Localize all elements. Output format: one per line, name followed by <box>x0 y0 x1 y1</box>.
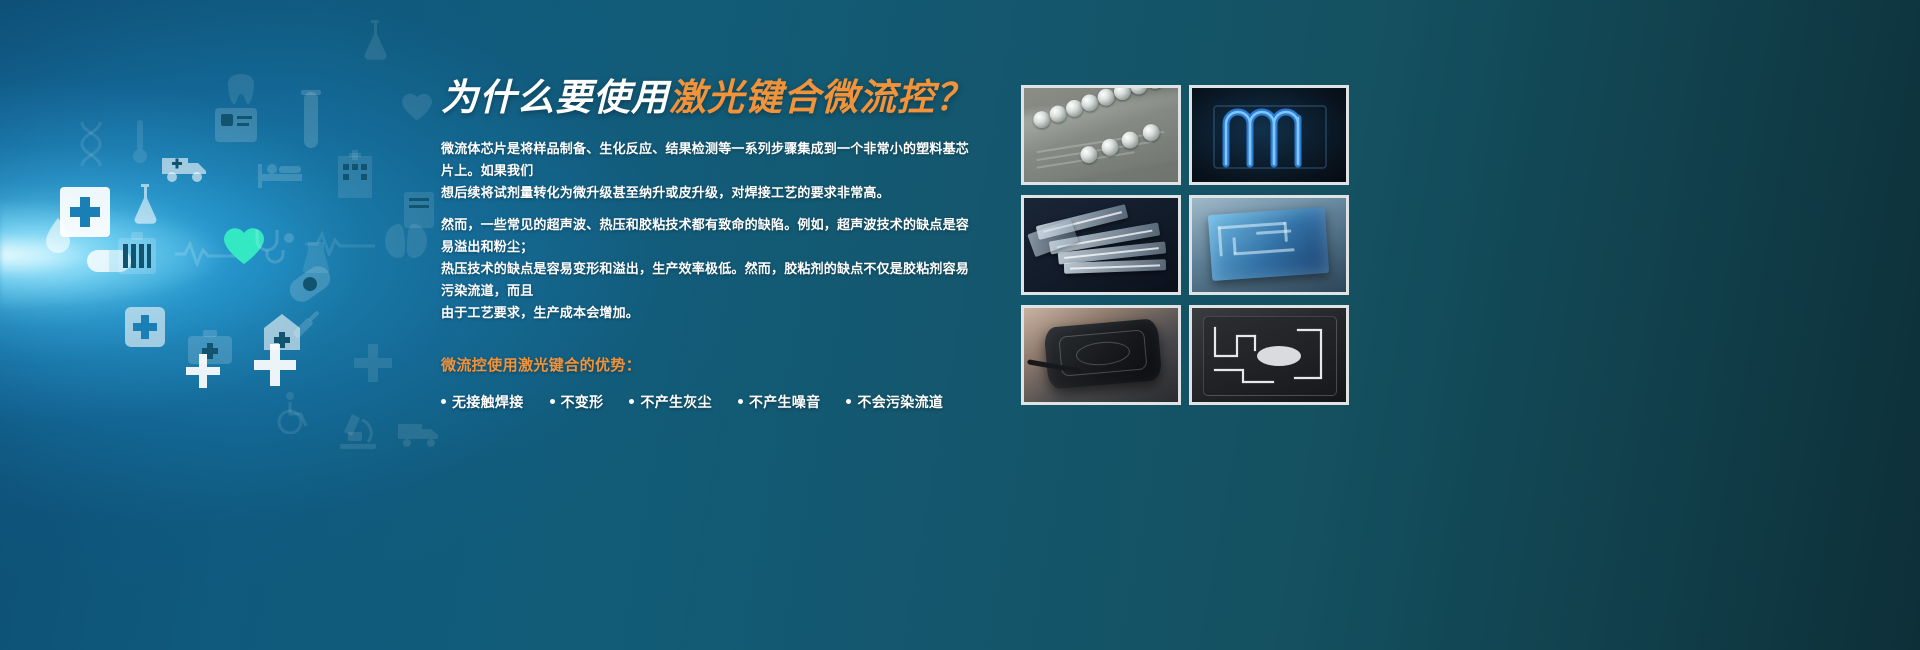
list-item-label: 不会污染流道 <box>857 392 943 412</box>
paragraph-line: 由于工艺要求，生产成本会增加。 <box>441 302 981 324</box>
medical-cross-badge-icon <box>125 307 165 347</box>
bullet-dot-icon <box>550 399 555 404</box>
serpentine-channel-glowing-photo <box>1189 85 1349 185</box>
first-aid-kit-icon <box>188 330 232 364</box>
dark-plate-channel-photo <box>1189 305 1349 405</box>
plus-cross-icon <box>252 342 298 388</box>
test-tube-icon <box>300 90 322 156</box>
bullet-dot-icon <box>629 399 634 404</box>
flask-icon <box>358 18 392 62</box>
heart-pulse-icon <box>222 226 266 266</box>
blood-drop-icon <box>44 218 72 254</box>
paragraph-line: 想后续将试剂量转化为微升级甚至纳升或皮升级，对焊接工艺的要求非常高。 <box>441 182 981 204</box>
bullet-dot-icon <box>846 399 851 404</box>
battery-icon <box>118 232 156 274</box>
light-beam <box>0 200 230 310</box>
plus-cross-icon <box>352 342 394 384</box>
heart-pulse-icon <box>400 92 434 122</box>
product-photo-grid <box>1021 85 1349 405</box>
beaker-icon <box>302 240 330 274</box>
transparent-chip-array-photo <box>1021 195 1181 295</box>
title-orange-part: 激光键合微流控？ <box>669 77 973 118</box>
list-item-label: 不产生灰尘 <box>640 392 712 412</box>
clipboard-icon <box>215 108 257 142</box>
list-item: 不会污染流道 <box>846 392 943 412</box>
microscope-icon <box>338 408 378 450</box>
plus-cross-icon <box>184 352 222 390</box>
plus-cross-icon <box>58 185 112 239</box>
ecg-line-icon <box>175 240 235 266</box>
list-item-label: 不变形 <box>561 392 604 412</box>
page-title: 为什么要使用激光键合微流控？ <box>441 78 981 119</box>
microfluidic-chip-wells-photo <box>1021 85 1181 185</box>
stethoscope-icon <box>252 228 296 264</box>
list-item-label: 不产生噪音 <box>749 392 821 412</box>
ambulance-icon <box>160 150 210 184</box>
house-medical-icon <box>262 312 302 352</box>
thermometer-icon <box>132 118 148 164</box>
promo-banner: 为什么要使用激光键合微流控？ 微流体芯片是将样品制备、生化反应、结果检测等一系列… <box>0 0 1920 650</box>
title-white-part: 为什么要使用 <box>441 77 669 118</box>
bandage-icon <box>288 272 332 296</box>
drawbacks-paragraph-block: 然而，一些常见的超声波、热压和胶粘技术都有致命的缺陷。例如，超声波技术的缺点是容… <box>441 214 981 324</box>
left-glow <box>0 150 320 360</box>
advantages-list: 无接触焊接 不变形 不产生灰尘 不产生噪音 不会污染流道 <box>441 392 981 412</box>
wheelchair-icon <box>274 392 314 434</box>
flask-icon <box>128 182 162 226</box>
paragraph-line: 微流体芯片是将样品制备、生化反应、结果检测等一系列步骤集成到一个非常小的塑料基芯… <box>441 138 981 182</box>
hospital-bed-icon <box>258 158 304 188</box>
list-item: 不变形 <box>550 392 604 412</box>
dna-icon <box>78 120 104 168</box>
bullet-dot-icon <box>441 399 446 404</box>
ecg-line-icon <box>305 230 375 256</box>
list-item: 不产生噪音 <box>738 392 821 412</box>
advantages-subheading: 微流控使用激光键合的优势： <box>441 354 981 375</box>
tooth-icon <box>226 72 256 106</box>
syringe-icon <box>288 308 324 344</box>
blue-manifold-block-photo <box>1189 195 1349 295</box>
black-molded-part-in-hand-photo <box>1021 305 1181 405</box>
list-item: 无接触焊接 <box>441 392 524 412</box>
list-item: 不产生灰尘 <box>629 392 712 412</box>
pill-capsule-icon <box>86 246 132 276</box>
truck-icon <box>398 420 442 448</box>
hospital-building-icon <box>338 150 372 198</box>
list-item-label: 无接触焊接 <box>452 392 524 412</box>
text-column: 为什么要使用激光键合微流控？ 微流体芯片是将样品制备、生化反应、结果检测等一系列… <box>441 78 981 412</box>
bullet-dot-icon <box>738 399 743 404</box>
paragraph-line: 热压技术的缺点是容易变形和溢出，生产效率极低。然而，胶粘剂的缺点不仅是胶粘剂容易… <box>441 258 981 302</box>
book-icon <box>402 190 436 230</box>
kidney-icon <box>385 222 427 262</box>
intro-paragraph-block: 微流体芯片是将样品制备、生化反应、结果检测等一系列步骤集成到一个非常小的塑料基芯… <box>441 138 981 204</box>
paragraph-line: 然而，一些常见的超声波、热压和胶粘技术都有致命的缺陷。例如，超声波技术的缺点是容… <box>441 214 981 258</box>
